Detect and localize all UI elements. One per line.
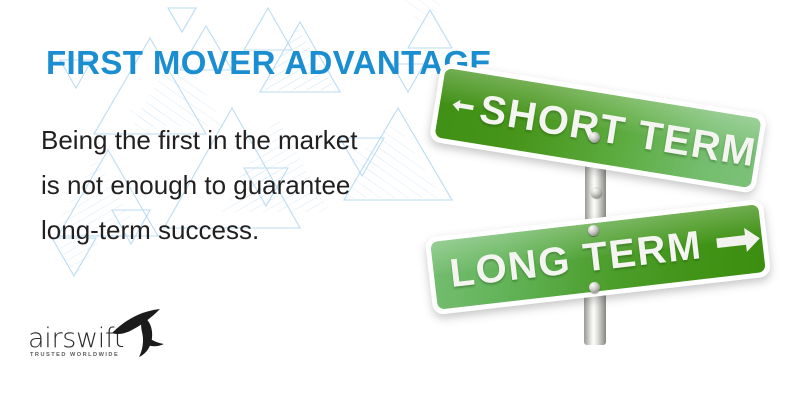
arrow-right-icon	[714, 221, 764, 260]
sign-long-term-label: LONG TERM	[447, 223, 704, 297]
swift-bird-icon	[106, 307, 168, 359]
sign-long-term-face: LONG TERM	[430, 204, 766, 309]
poster-canvas: FIRST MOVER ADVANTAGE Being the first in…	[0, 0, 800, 400]
subtitle-line-3: long-term success.	[41, 208, 441, 253]
street-signpost: SHORT TERM LONG TERM	[400, 60, 800, 400]
sign-bolt-short-top	[589, 132, 600, 143]
subtitle-line-2: is not enough to guarantee	[41, 163, 441, 208]
subtitle-line-1: Being the first in the market	[41, 118, 441, 163]
arrow-left-icon	[449, 88, 477, 125]
sign-bolt-long-top	[588, 225, 599, 236]
sign-bolt-short-bottom	[591, 187, 602, 198]
airswift-logo: airswift TRUSTED WORLDWIDE	[28, 311, 158, 363]
sign-bolt-long-bottom	[589, 282, 600, 293]
sign-short-term-label: SHORT TERM	[477, 87, 760, 176]
subtitle-text: Being the first in the market is not eno…	[41, 118, 441, 253]
